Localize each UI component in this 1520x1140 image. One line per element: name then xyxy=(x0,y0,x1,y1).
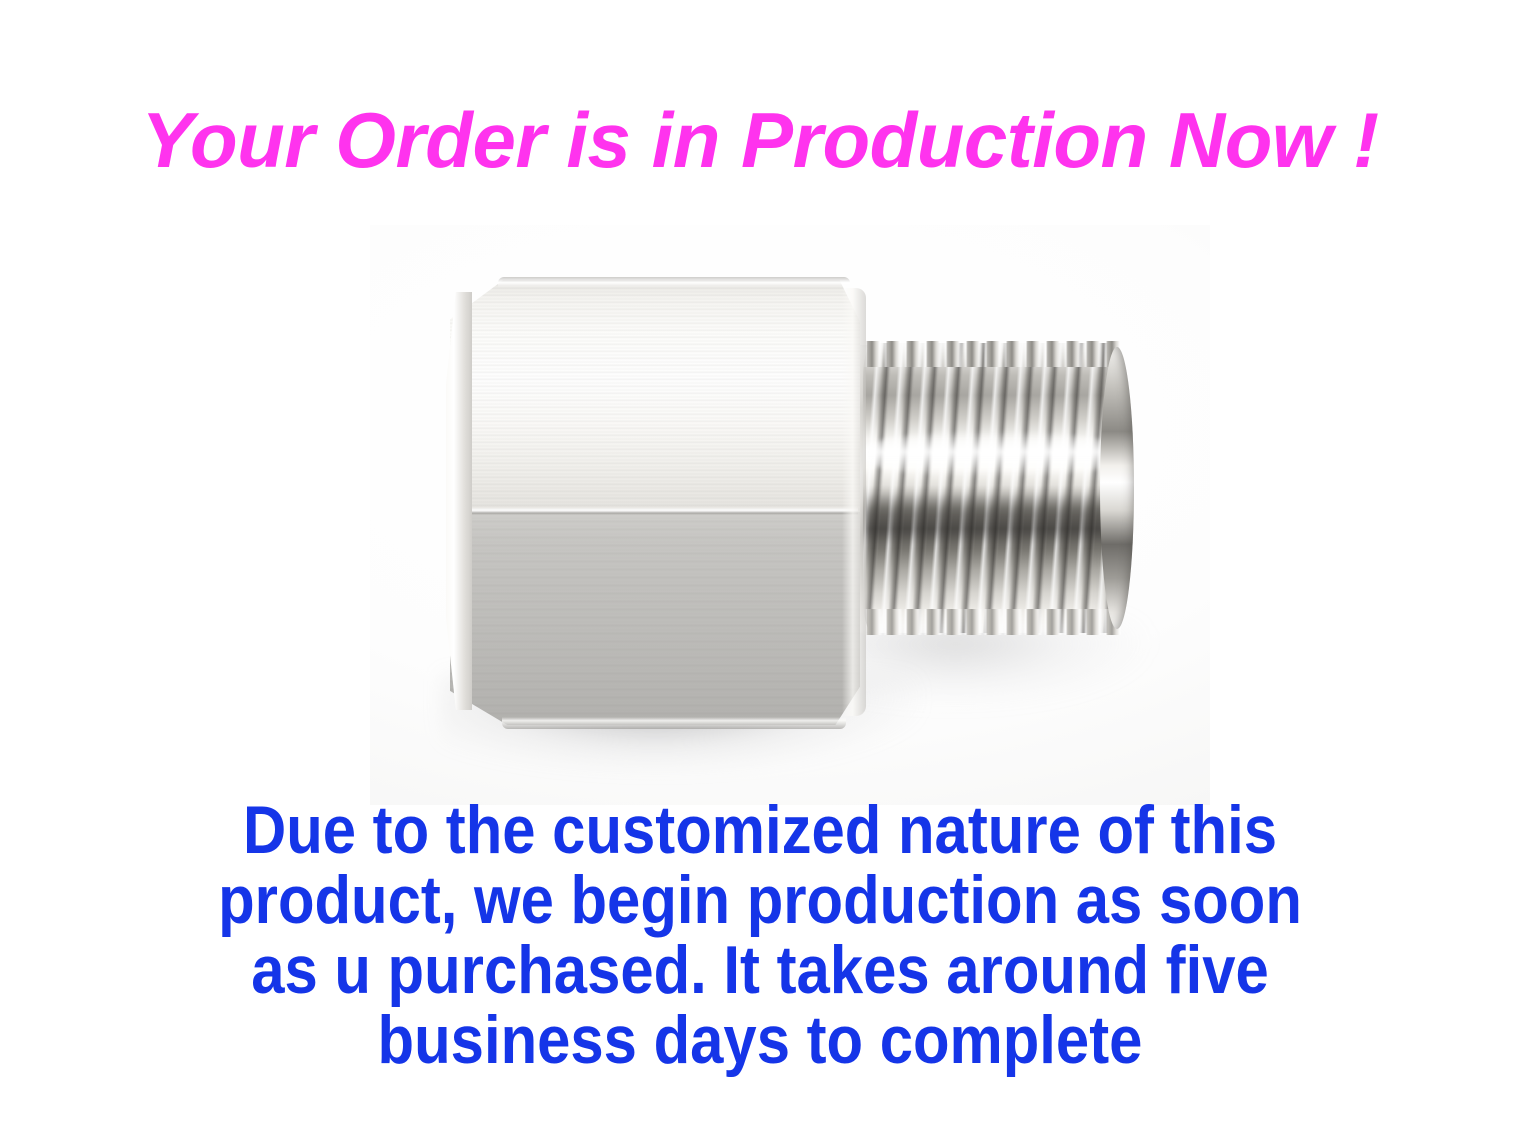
hex-right-chamfer xyxy=(842,288,866,716)
message-line-3: as u purchased. It takes around five xyxy=(91,935,1429,1005)
hex-body xyxy=(450,280,860,725)
hex-bottom-edge xyxy=(502,717,846,729)
production-message: Due to the customized nature of this pro… xyxy=(91,795,1429,1075)
message-line-1: Due to the customized nature of this xyxy=(91,795,1429,865)
hex-lower-striations xyxy=(450,512,860,725)
promo-banner: Your Order is in Production Now ! xyxy=(0,0,1520,1140)
threaded-nipple xyxy=(855,343,1130,633)
product-photo xyxy=(370,225,1210,805)
message-line-2: product, we begin production as soon xyxy=(91,865,1429,935)
thread-ridges xyxy=(863,343,1121,633)
hex-left-bevel xyxy=(446,292,472,710)
hex-facet-edge xyxy=(452,507,858,515)
thread-crest-top xyxy=(863,341,1121,367)
hex-upper-striations xyxy=(450,280,860,512)
hex-top-edge xyxy=(498,277,850,287)
thread-end-cap xyxy=(1100,347,1134,629)
headline-text: Your Order is in Production Now ! xyxy=(0,96,1520,184)
thread-shadow-band xyxy=(863,493,1121,545)
message-line-4: business days to complete xyxy=(91,1005,1429,1075)
thread-highlight-band xyxy=(863,431,1121,477)
thread-crest-bottom xyxy=(863,609,1121,635)
